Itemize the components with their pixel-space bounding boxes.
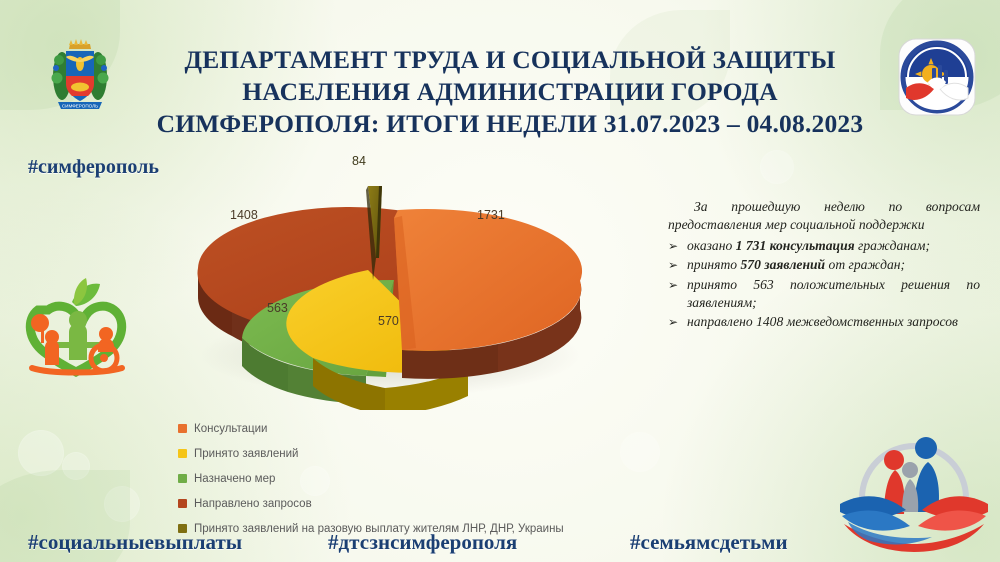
legend-item-consultations[interactable]: Консультации (178, 418, 598, 439)
bokeh-circle (18, 430, 64, 476)
summary-item-pre-0: оказано (687, 238, 736, 253)
legend-label-consultations: Консультации (194, 423, 267, 435)
legend-item-requests[interactable]: Направлено запросов (178, 493, 598, 514)
summary-item-pre-3: направлено 1408 межведомственных запросо… (687, 314, 958, 329)
bokeh-circle (620, 432, 660, 472)
summary-item-decisions: ➢ принято 563 положительных решения по з… (668, 276, 980, 313)
legend-item-applications[interactable]: Принято заявлений (178, 443, 598, 464)
title-line-1: ДЕПАРТАМЕНТ ТРУДА И СОЦИАЛЬНОЙ ЗАЩИТЫ (140, 44, 880, 76)
summary-item-bold-1: заявлений (764, 257, 825, 272)
bullet-arrow-icon: ➢ (668, 256, 678, 274)
pie-chart: 1731 570 563 1408 84 (180, 150, 600, 410)
title-line-3: СИМФЕРОПОЛЯ: ИТОГИ НЕДЕЛИ 31.07.2023 – 0… (140, 108, 880, 140)
summary-item-num-1: 570 (740, 257, 764, 272)
bokeh-circle (104, 486, 140, 522)
bullet-arrow-icon: ➢ (668, 313, 678, 331)
legend-label-measures: Назначено мер (194, 473, 275, 485)
summary-item-consultations: ➢ оказано 1 731 консультация гражданам; (668, 237, 980, 255)
summary-item-post-1: от граждан; (825, 257, 905, 272)
pie-label-consultations: 1731 (477, 208, 505, 222)
weekly-summary: За прошедшую неделю по вопросам предоста… (668, 198, 980, 333)
title-line-2: НАСЕЛЕНИЯ АДМИНИСТРАЦИИ ГОРОДА (140, 76, 880, 108)
summary-item-num-0: 1 731 (736, 238, 770, 253)
pie-label-measures: 563 (267, 301, 288, 315)
hashtag-dtszn-simferopolya[interactable]: #дтсзнсимферополя (328, 530, 517, 555)
summary-item-pre-2: принято 563 положительных решения по зая… (687, 277, 980, 310)
poster-title: ДЕПАРТАМЕНТ ТРУДА И СОЦИАЛЬНОЙ ЗАЩИТЫ НА… (140, 44, 880, 140)
summary-item-pre-1: принято (687, 257, 740, 272)
bokeh-circle (760, 150, 794, 184)
summary-item-applications: ➢ принято 570 заявлений от граждан; (668, 256, 980, 274)
family-care-logo-icon (14, 276, 138, 378)
pie-label-requests: 1408 (230, 208, 258, 222)
legend-swatch-applications (178, 449, 187, 458)
legend-label-requests: Направлено запросов (194, 498, 312, 510)
summary-item-bold-0: консультация (770, 238, 855, 253)
hashtag-socialnye-vyplaty[interactable]: #социальныевыплаты (28, 530, 242, 555)
summary-item-post-0: гражданам; (855, 238, 930, 253)
dtszn-round-logo-icon (898, 38, 976, 116)
legend-item-measures[interactable]: Назначено мер (178, 468, 598, 489)
bullet-arrow-icon: ➢ (668, 237, 678, 255)
legend-swatch-requests (178, 499, 187, 508)
bokeh-circle (62, 452, 90, 480)
summary-item-interagency-requests: ➢ направлено 1408 межведомственных запро… (668, 313, 980, 331)
hashtag-simferopol[interactable]: #симферополь (28, 156, 159, 179)
summary-intro: За прошедшую неделю по вопросам предоста… (668, 198, 980, 235)
family-book-logo-icon (838, 412, 990, 552)
chart-legend: Консультации Принято заявлений Назначено… (178, 418, 598, 543)
poster-canvas: СИМФЕРОПОЛЬ ДЕПАРТАМЕНТ ТРУДА И СОЦИАЛЬН… (0, 0, 1000, 562)
coat-ribbon-text: СИМФЕРОПОЛЬ (62, 104, 98, 109)
summary-list: ➢ оказано 1 731 консультация гражданам; … (668, 237, 980, 332)
legend-swatch-measures (178, 474, 187, 483)
legend-label-applications: Принято заявлений (194, 448, 298, 460)
pie-label-applications: 570 (378, 314, 399, 328)
simferopol-coat-of-arms-icon: СИМФЕРОПОЛЬ (50, 36, 110, 120)
hashtag-semyam-s-detmi[interactable]: #семьямсдетьми (630, 530, 788, 555)
legend-swatch-consultations (178, 424, 187, 433)
pie-label-lnr-dnr: 84 (352, 154, 366, 168)
bullet-arrow-icon: ➢ (668, 276, 678, 294)
